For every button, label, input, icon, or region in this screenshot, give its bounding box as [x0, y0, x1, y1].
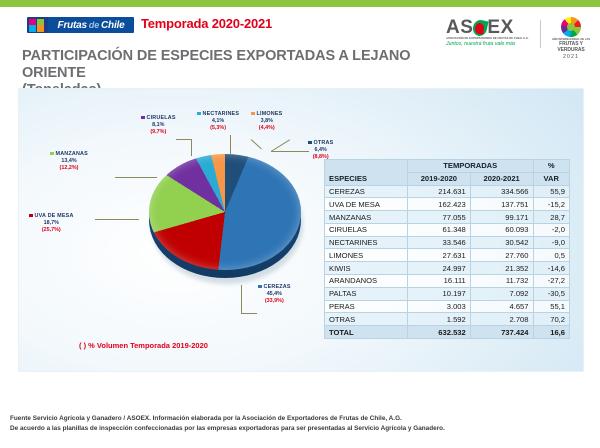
cell-species: LIMONES	[325, 249, 408, 262]
cell-species: NECTARINES	[325, 236, 408, 249]
col-header-season-prev: 2019-2020	[407, 172, 470, 185]
swatch-manzanas	[50, 152, 54, 156]
leader-line-limones	[251, 139, 262, 149]
cell-prev: 16.111	[407, 275, 470, 288]
pie-slices	[149, 154, 301, 270]
cell-curr: 60.093	[470, 223, 533, 236]
content-panel: CIRUELAS 8,1% (9,7%) NECTARINES 4,1% (5,…	[18, 88, 584, 372]
leader-line-cerezas-2	[241, 313, 257, 314]
asoex-word-ex: EX	[487, 18, 513, 37]
cell-var: -2,0	[533, 223, 569, 236]
table-row: PALTAS10.1977.092-30,5	[325, 287, 570, 300]
cell-species: KIWIS	[325, 262, 408, 275]
table-row: CIRUELAS61.34860.093-2,0	[325, 223, 570, 236]
header-divider	[540, 20, 541, 48]
table-row: LIMONES27.63127.7600,5	[325, 249, 570, 262]
fruit-vegetable-circle-icon	[561, 17, 581, 37]
swatch-cerezas	[258, 285, 262, 289]
pie-chart	[149, 154, 304, 284]
table-head: ESPECIES TEMPORADAS % 2019-2020 2020-202…	[325, 160, 570, 186]
cell-var: 55,1	[533, 300, 569, 313]
asoex-word-as: AS	[446, 18, 473, 37]
page-title-line1: PARTICIPACIÓN DE ESPECIES EXPORTADAS A L…	[22, 48, 410, 81]
cell-var: -9,0	[533, 236, 569, 249]
swatch-limones	[251, 112, 255, 116]
table-row: KIWIS24.99721.352-14,6	[325, 262, 570, 275]
cell-curr: 334.566	[470, 185, 533, 198]
leader-line-uva	[95, 219, 139, 220]
cell-prev: 33.546	[407, 236, 470, 249]
pie-label-uva-de-mesa: UVA DE MESA 18,7% (25,7%)	[29, 213, 74, 235]
species-table: ESPECIES TEMPORADAS % 2019-2020 2020-202…	[324, 159, 570, 339]
leader-line-ciruelas	[191, 139, 192, 156]
cell-curr: 11.732	[470, 275, 533, 288]
table-row: CEREZAS214.631334.56655,9	[325, 185, 570, 198]
cell-species: UVA DE MESA	[325, 198, 408, 211]
swatch-uva-de-mesa	[29, 214, 33, 218]
col-header-species: ESPECIES	[325, 160, 408, 186]
cell-prev: 24.997	[407, 262, 470, 275]
cell-prev: 214.631	[407, 185, 470, 198]
swatch-nectarines	[197, 112, 201, 116]
logo-word-chile: Chile	[101, 20, 124, 31]
table-header-row-1: ESPECIES TEMPORADAS %	[325, 160, 570, 173]
cell-curr: 737.424	[470, 326, 533, 339]
asoex-leaf-icon	[473, 20, 487, 36]
pie-label-limones: LIMONES 3,8% (4,4%)	[251, 111, 282, 133]
logo-wordmark: Frutas de Chile	[48, 17, 134, 33]
source-line-1: Fuente Servicio Agrícola y Ganadero / AS…	[10, 414, 590, 424]
logo-squares-icon	[27, 17, 48, 33]
cell-prev: 10.197	[407, 287, 470, 300]
international-year-logo: AÑO INTERNACIONAL DE LAS FRUTAS Y VERDUR…	[549, 17, 593, 51]
cell-var: 28,7	[533, 211, 569, 224]
cell-prev: 61.348	[407, 223, 470, 236]
cell-prev: 632.532	[407, 326, 470, 339]
table-total-row: TOTAL632.532737.42416,6	[325, 326, 570, 339]
cell-var: -27,2	[533, 275, 569, 288]
cell-var: 55,9	[533, 185, 569, 198]
cell-var: -30,5	[533, 287, 569, 300]
cell-var: -15,2	[533, 198, 569, 211]
season-label: Temporada 2020-2021	[141, 16, 272, 31]
cell-species: CEREZAS	[325, 185, 408, 198]
asoex-subtitle: ASOCIACIÓN DE EXPORTADORES DE FRUTAS DE …	[446, 37, 534, 40]
cell-var: 0,5	[533, 249, 569, 262]
cell-var: -14,6	[533, 262, 569, 275]
source-note: Fuente Servicio Agrícola y Ganadero / AS…	[10, 414, 590, 433]
col-header-season-curr: 2020-2021	[470, 172, 533, 185]
asoex-wordmark: AS EX	[446, 18, 534, 37]
top-accent-bar	[0, 0, 600, 7]
chart-footnote: ( ) % Volumen Temporada 2019-2020	[79, 341, 208, 350]
cell-species: CIRUELAS	[325, 223, 408, 236]
cell-curr: 137.751	[470, 198, 533, 211]
cell-prev: 27.631	[407, 249, 470, 262]
cell-prev: 1.592	[407, 313, 470, 326]
leader-line-ciruelas-2	[176, 139, 192, 140]
cell-curr: 99.171	[470, 211, 533, 224]
col-header-var-top: %	[533, 160, 569, 173]
cell-curr: 21.352	[470, 262, 533, 275]
leader-line-cerezas	[241, 285, 242, 313]
logo-word-frutas: Frutas	[58, 20, 87, 31]
leader-line-nectarines	[230, 135, 231, 155]
cell-curr: 7.092	[470, 287, 533, 300]
cell-species: TOTAL	[325, 326, 408, 339]
cell-curr: 2.708	[470, 313, 533, 326]
logo-word-de: de	[89, 20, 99, 30]
pie-label-nectarines: NECTARINES 4,1% (5,3%)	[197, 111, 239, 133]
cell-var: 16,6	[533, 326, 569, 339]
cell-curr: 4.657	[470, 300, 533, 313]
cell-curr: 30.542	[470, 236, 533, 249]
cell-curr: 27.760	[470, 249, 533, 262]
table-row: OTRAS1.5922.70870,2	[325, 313, 570, 326]
leader-line-manzanas	[115, 177, 157, 178]
pie-label-cerezas: CEREZAS 45,4% (33,9%)	[258, 284, 291, 306]
pie-label-manzanas: MANZANAS 13,4% (12,2%)	[50, 151, 88, 173]
table-row: PERAS3.0034.65755,1	[325, 300, 570, 313]
cell-species: ARANDANOS	[325, 275, 408, 288]
table-row: MANZANAS77.05599.17128,7	[325, 211, 570, 224]
source-line-2: De acuerdo a las planillas de inspección…	[10, 424, 590, 434]
asoex-tagline: Juntos, nuestra fruta vale más	[446, 41, 534, 47]
cell-species: PERAS	[325, 300, 408, 313]
cell-prev: 3.003	[407, 300, 470, 313]
table-row: ARANDANOS16.11111.732-27,2	[325, 275, 570, 288]
table-body: CEREZAS214.631334.56655,9UVA DE MESA162.…	[325, 185, 570, 338]
iyfv-year: 2021	[549, 54, 593, 60]
asoex-logo: AS EX ASOCIACIÓN DE EXPORTADORES DE FRUT…	[446, 18, 534, 50]
table-row: UVA DE MESA162.423137.751-15,2	[325, 198, 570, 211]
frutas-de-chile-logo: Frutas de Chile	[27, 17, 134, 33]
cell-species: MANZANAS	[325, 211, 408, 224]
swatch-otras	[308, 141, 312, 145]
cell-prev: 77.055	[407, 211, 470, 224]
leader-line-otras	[271, 151, 309, 152]
cell-var: 70,2	[533, 313, 569, 326]
col-header-var-bottom: VAR	[533, 172, 569, 185]
cell-species: PALTAS	[325, 287, 408, 300]
iyfv-line2: FRUTAS Y VERDURAS	[549, 41, 593, 53]
col-header-temporadas: TEMPORADAS	[407, 160, 533, 173]
swatch-ciruelas	[141, 116, 145, 120]
cell-prev: 162.423	[407, 198, 470, 211]
pie-label-ciruelas: CIRUELAS 8,1% (9,7%)	[141, 115, 176, 137]
cell-species: OTRAS	[325, 313, 408, 326]
table-row: NECTARINES33.54630.542-9,0	[325, 236, 570, 249]
